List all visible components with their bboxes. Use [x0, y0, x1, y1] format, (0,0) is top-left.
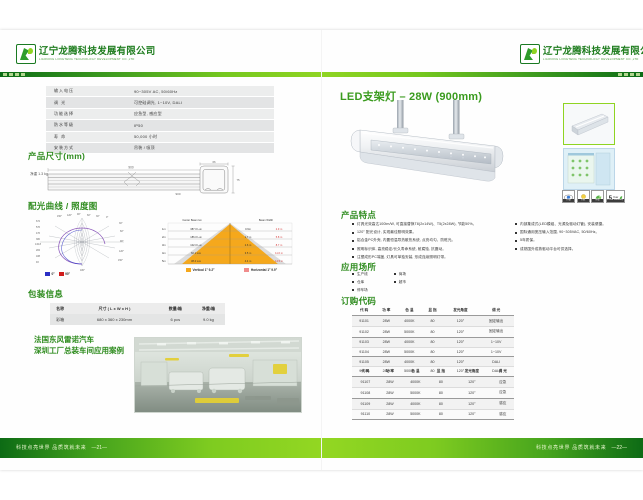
application-item: 生产线: [352, 272, 368, 277]
table-row: 91103 28W 4000K 80 120° 1~10V: [352, 337, 514, 347]
oc-col-header: 功 率: [379, 366, 401, 377]
oc-cri: 80: [422, 337, 442, 347]
svg-text:188: 188: [36, 255, 41, 258]
illuminance-legend: Vertical 1° 9.2° Horizontal 1° 9.9°: [186, 268, 277, 272]
product-hero-image: [345, 100, 560, 205]
application-lists: 生产线 仓库 停车场 商场 超市: [352, 272, 406, 296]
oc-beam: 120°: [443, 337, 479, 347]
pkg-cell: 680 x 360 x 230mm: [70, 314, 159, 325]
application-item: 超市: [394, 280, 406, 285]
oc-cri: 80: [430, 387, 452, 398]
feature-list-right: 内部集成式(LED模组、光源及驱动灯管), 安装便捷。 国际通用宽压输入范围, …: [515, 222, 637, 255]
dimension-drawing-profile: 66 75: [190, 160, 245, 200]
page-root: 辽宁龙腾科技发展有限公司 LIAONING LONGTENG TECHNOLOG…: [0, 0, 643, 500]
feature-list-left: 灯具光效高达100lm/W, 可直接替换T8(2x14W)、T5(2x28W),…: [352, 222, 502, 263]
oc-cct: 4000K: [396, 337, 422, 347]
svg-text:4.4 m: 4.4 m: [245, 259, 252, 263]
spec-key: 功能选择: [46, 108, 126, 119]
logo-leaf-icon: [520, 44, 540, 64]
oc-cri: 80: [422, 326, 442, 337]
header-dots-right: [618, 73, 640, 76]
oc-dimming: 感应: [492, 398, 515, 409]
svg-text:2.9 m: 2.9 m: [276, 227, 283, 231]
table-row: 寿 命50,000 小时: [46, 131, 274, 142]
spec-value: 90~305V AC, 50/60Hz: [126, 86, 274, 97]
svg-text:1.7 m: 1.7 m: [245, 235, 252, 239]
svg-text:8.7 m: 8.7 m: [276, 243, 283, 247]
pkg-cell: 彩箱: [50, 314, 70, 325]
header-bar-right: [322, 72, 643, 77]
packaging-table: 名称 尺寸 ( L x W x H ) 数量/箱 净重/箱 彩箱 680 x 3…: [50, 303, 225, 325]
oc-cri: 80: [430, 377, 452, 388]
oc-col-header: 发光角度: [452, 366, 491, 377]
oc-beam: 120°: [452, 409, 491, 420]
svg-text:4m: 4m: [162, 251, 166, 255]
table-row: 91104 28W 5000K 80 120° 1~10V: [352, 347, 514, 357]
certification-badges: 护眼 节能 环保 5 Year 5 Year Warranty: [562, 190, 625, 203]
oc-col-header: 调 光: [492, 366, 515, 377]
feature-item: 灯具光效高达100lm/W, 可直接替换T8(2x14W)、T5(2x28W),…: [352, 222, 502, 227]
company-name-en: LIAONING LONGTENG TECHNOLOGY DEVELOPMENT…: [543, 58, 643, 61]
svg-text:900: 900: [128, 166, 134, 170]
svg-text:14.5 m: 14.5 m: [275, 259, 283, 263]
spec-key: 调 光: [46, 97, 126, 108]
oc-cct: 4000K: [401, 377, 430, 388]
oc-power: 28W: [376, 316, 396, 327]
spec-value: IP50: [126, 120, 274, 131]
application-item: 仓库: [352, 280, 368, 285]
oc-cct: 5000K: [396, 347, 422, 357]
spec-key: 寿 命: [46, 131, 126, 142]
oc-code: 91108: [352, 387, 379, 398]
oc-beam: 120°: [443, 316, 479, 327]
svg-text:93: 93: [36, 261, 39, 264]
badge-caption: 环保: [592, 199, 603, 202]
oc-col-header: 色 温: [401, 366, 430, 377]
feature-item: 注塑成形PC端盖, 灯具可单独安装, 形成连续照明灯带。: [352, 255, 502, 260]
svg-text:0°: 0°: [106, 216, 108, 219]
table-row: 91107 28W 4000K 80 120° 应急: [352, 377, 514, 388]
svg-text:5m: 5m: [162, 259, 166, 263]
page-fold: [321, 30, 322, 470]
pkg-col-header: 名称: [50, 303, 70, 314]
oc-dimming: 固定输出: [478, 326, 514, 337]
illuminance-cone-chart: Center Beam lux Beam Width 1m2m 3m4m 5m …: [148, 213, 306, 275]
footer-slogan-right: 科技点亮世界 品质筑就未来—22—: [536, 444, 627, 451]
feature-item: 120° 配光设计, 实现最佳照明效果。: [352, 230, 502, 235]
application-list-col2: 商场 超市: [394, 272, 406, 296]
svg-text:2m: 2m: [162, 235, 166, 239]
svg-text:Center Beam lux: Center Beam lux: [182, 218, 202, 222]
table-row: 调 光可控硅调光, 1~10V, DALI: [46, 97, 274, 108]
spec-value: 吊装 / 吸顶: [126, 142, 274, 153]
svg-text:476: 476: [36, 232, 41, 235]
oc-dimming: 应急: [492, 377, 515, 388]
feature-item: 照明标识体, 高亮稳定/长久寿命系统, 耐腐蚀, 抗震动。: [352, 247, 502, 252]
oc-beam: 120°: [452, 377, 491, 388]
svg-text:576: 576: [36, 226, 41, 229]
oc-power: 28W: [379, 387, 401, 398]
oc-col-header: 显 指: [430, 366, 452, 377]
svg-text:380: 380: [36, 238, 41, 241]
oc-col-header: 代 码: [352, 366, 379, 377]
svg-text:120°: 120°: [119, 250, 124, 253]
legend-label: 0°: [52, 272, 55, 276]
svg-text:150°: 150°: [118, 259, 123, 262]
oc-col-header: 发光角度: [443, 305, 479, 316]
product-thumbnail-1: [563, 103, 615, 145]
table-row: 功能选择应急型, 感应型: [46, 108, 274, 119]
pkg-col-header: 尺寸 ( L x W x H ): [70, 303, 159, 314]
product-thumbnail-2: [563, 148, 615, 190]
five-year-warranty-icon: 5 Year 5 Year Warranty: [606, 190, 625, 203]
oc-cct: 5000K: [396, 326, 422, 337]
svg-text:60°: 60°: [87, 214, 91, 217]
legend-label: 90°: [65, 272, 70, 276]
badge-caption: 护眼: [563, 199, 574, 202]
eco-icon: 环保: [591, 190, 604, 203]
oc-beam: 120°: [443, 326, 479, 337]
application-item: 商场: [394, 272, 406, 277]
oc-col-header: 色 温: [396, 305, 422, 316]
svg-text:60.1 Lux: 60.1 Lux: [191, 251, 202, 255]
spec-value: 可控硅调光, 1~10V, DALI: [126, 97, 274, 108]
svg-text:150°: 150°: [57, 215, 62, 218]
application-item: 停车场: [352, 288, 368, 293]
logo-leaf-icon: [16, 44, 36, 64]
pkg-cell: 9.0 kg: [192, 314, 225, 325]
svg-text:186.0 Lux: 186.0 Lux: [190, 235, 202, 239]
oc-beam: 120°: [443, 347, 479, 357]
oc-code: 91107: [352, 377, 379, 388]
polar-legend: 0° 90°: [45, 272, 70, 276]
company-logo-left: 辽宁龙腾科技发展有限公司 LIAONING LONGTENG TECHNOLOG…: [16, 44, 155, 64]
energy-saving-icon: 节能: [577, 190, 590, 203]
footer-left: 科技点亮世界 品质筑就未来—21—: [0, 438, 321, 458]
table-row: 91102 28W 5000K 80 120° 固定输出: [352, 326, 514, 337]
case-study-line1: 法国东风雷诺汽车: [34, 335, 124, 346]
company-logo-right: 辽宁龙腾科技发展有限公司 LIAONING LONGTENG TECHNOLOG…: [520, 44, 643, 64]
table-row: 彩箱 680 x 360 x 230mm 6 pcs 9.0 kg: [50, 314, 225, 325]
svg-text:102.0 Lux: 102.0 Lux: [190, 243, 202, 247]
badge-caption: 5 Year Warranty: [607, 199, 624, 202]
svg-text:180°: 180°: [80, 269, 85, 272]
oc-col-header: 显 指: [422, 305, 442, 316]
svg-text:30°: 30°: [96, 215, 100, 218]
svg-text:75: 75: [236, 178, 240, 182]
pkg-cell: 6 pcs: [159, 314, 192, 325]
table-row: 防水等级IP50: [46, 120, 274, 131]
feature-item: 成熟国外成熟驱动平台可供选择。: [515, 247, 637, 252]
spec-key: 输入电压: [46, 86, 126, 97]
oc-cri: 80: [422, 347, 442, 357]
oc-code: 91103: [352, 337, 376, 347]
oc-cri: 80: [430, 398, 452, 409]
oc-cct: 5000K: [401, 409, 430, 420]
oc-dimming: 1~10V: [478, 347, 514, 357]
legend-label: Vertical 1° 9.2°: [193, 268, 215, 272]
pkg-col-header: 净重/箱: [192, 303, 225, 314]
oc-cri: 80: [422, 316, 442, 327]
oc-power: 28W: [376, 347, 396, 357]
table-row: 输入电压90~305V AC, 50/60Hz: [46, 86, 274, 97]
order-code-table-2: 代 码 功 率 色 温 显 指 发光角度 调 光 91107 28W 4000K…: [352, 366, 514, 420]
footer-right: 科技点亮世界 品质筑就未来—22—: [322, 438, 643, 458]
feature-item: 国际通用宽压输入范围, 90~305VAC, 50/60Hz。: [515, 230, 637, 235]
table-header-row: 名称 尺寸 ( L x W x H ) 数量/箱 净重/箱: [50, 303, 225, 314]
svg-text:2.6 m: 2.6 m: [245, 243, 252, 247]
pkg-col-header: 数量/箱: [159, 303, 192, 314]
svg-text:66: 66: [212, 160, 216, 164]
oc-dimming: 固定输出: [478, 316, 514, 327]
oc-cri: 80: [430, 409, 452, 420]
oc-col-header: 功 率: [376, 305, 396, 316]
oc-code: 91109: [352, 398, 379, 409]
svg-text:132.8: 132.8: [35, 243, 42, 246]
svg-text:3.5 m: 3.5 m: [245, 251, 252, 255]
spec-value: 50,000 小时: [126, 131, 274, 142]
svg-text:900: 900: [175, 192, 180, 196]
svg-text:38.4 Lux: 38.4 Lux: [191, 259, 202, 263]
table-header-row: 代 码 功 率 色 温 显 指 发光角度 调 光: [352, 305, 514, 316]
oc-dimming: 应急: [492, 387, 515, 398]
oc-dimming: 1~10V: [478, 337, 514, 347]
oc-power: 28W: [379, 398, 401, 409]
spec-value: 应急型, 感应型: [126, 108, 274, 119]
feature-item: 5年质保。: [515, 238, 637, 243]
spec-key: 防水等级: [46, 120, 126, 131]
header-bar-left: [0, 72, 321, 77]
feature-item: 内部集成式(LED模组、光源及驱动灯管), 安装便捷。: [515, 222, 637, 227]
legend-label: Horizontal 1° 9.9°: [251, 268, 277, 272]
svg-text:90°: 90°: [77, 213, 81, 216]
oc-code: 91101: [352, 316, 376, 327]
oc-power: 28W: [379, 377, 401, 388]
svg-text:5.8 m: 5.8 m: [276, 235, 283, 239]
svg-text:3m: 3m: [162, 243, 166, 247]
svg-text:672: 672: [36, 220, 41, 223]
polar-distribution-chart: 150°120° 90°60° 30°0° 672576 476380 132.…: [35, 212, 130, 274]
table-header-row: 代 码 功 率 色 温 显 指 发光角度 调 光: [352, 366, 514, 377]
svg-text:387.0 Lux: 387.0 Lux: [190, 227, 202, 231]
oc-power: 28W: [379, 409, 401, 420]
svg-text:60°: 60°: [120, 230, 124, 233]
specification-table: 输入电压90~305V AC, 50/60Hz 调 光可控硅调光, 1~10V,…: [46, 86, 274, 154]
footer-slogan-left: 科技点亮世界 品质筑就未来—21—: [16, 444, 107, 451]
svg-text:0.9m: 0.9m: [245, 227, 251, 231]
svg-text:120°: 120°: [67, 214, 72, 217]
table-row: 91108 28W 5000K 80 120° 应急: [352, 387, 514, 398]
header-dots-left: [3, 73, 25, 76]
oc-power: 28W: [376, 337, 396, 347]
svg-text:90°: 90°: [120, 240, 124, 243]
company-name-cn: 辽宁龙腾科技发展有限公司: [39, 47, 155, 57]
oc-power: 28W: [376, 326, 396, 337]
oc-code: 91102: [352, 326, 376, 337]
eye-comfort-icon: 护眼: [562, 190, 575, 203]
oc-beam: 120°: [452, 398, 491, 409]
oc-col-header: 调 光: [478, 305, 514, 316]
oc-code: 91110: [352, 409, 379, 420]
oc-code: 91104: [352, 347, 376, 357]
section-heading-packaging: 包装信息: [28, 288, 63, 300]
badge-caption: 节能: [578, 199, 589, 202]
table-row: 91101 28W 4000K 80 120° 固定输出: [352, 316, 514, 327]
oc-cct: 4000K: [396, 316, 422, 327]
application-list-col1: 生产线 仓库 停车场: [352, 272, 368, 296]
specification-table-body: 输入电压90~305V AC, 50/60Hz 调 光可控硅调光, 1~10V,…: [46, 86, 274, 154]
svg-text:Beam Width: Beam Width: [259, 218, 274, 222]
oc-dimming: 感应: [492, 409, 515, 420]
oc-col-header: 代 码: [352, 305, 376, 316]
svg-text:284: 284: [36, 249, 41, 252]
table-row: 91109 28W 4000K 80 120° 感应: [352, 398, 514, 409]
section-heading-features: 产品特点: [341, 209, 376, 221]
case-study-title: 法国东风雷诺汽车 深圳工厂总装车间应用案例: [34, 335, 124, 357]
feature-item: 铝合金PC外壳, 内置恒温导热散热系统, 点亮均匀、防眩光。: [352, 238, 502, 243]
oc-beam: 120°: [452, 387, 491, 398]
case-study-line2: 深圳工厂总装车间应用案例: [34, 346, 124, 357]
oc-cct: 4000K: [401, 398, 430, 409]
oc-cct: 5000K: [401, 387, 430, 398]
section-heading-dimensions: 产品尺寸(mm): [28, 150, 85, 162]
company-name-cn: 辽宁龙腾科技发展有限公司: [543, 47, 643, 57]
section-heading-photometry: 配光曲线 / 照度图: [28, 200, 98, 212]
company-name-en: LIAONING LONGTENG TECHNOLOGY DEVELOPMENT…: [39, 58, 155, 61]
svg-text:1m: 1m: [162, 227, 166, 231]
svg-text:30°: 30°: [119, 222, 123, 225]
case-study-photo: [134, 337, 302, 413]
table-row: 91110 28W 5000K 80 120° 感应: [352, 409, 514, 420]
svg-text:11.6 m: 11.6 m: [275, 251, 283, 255]
